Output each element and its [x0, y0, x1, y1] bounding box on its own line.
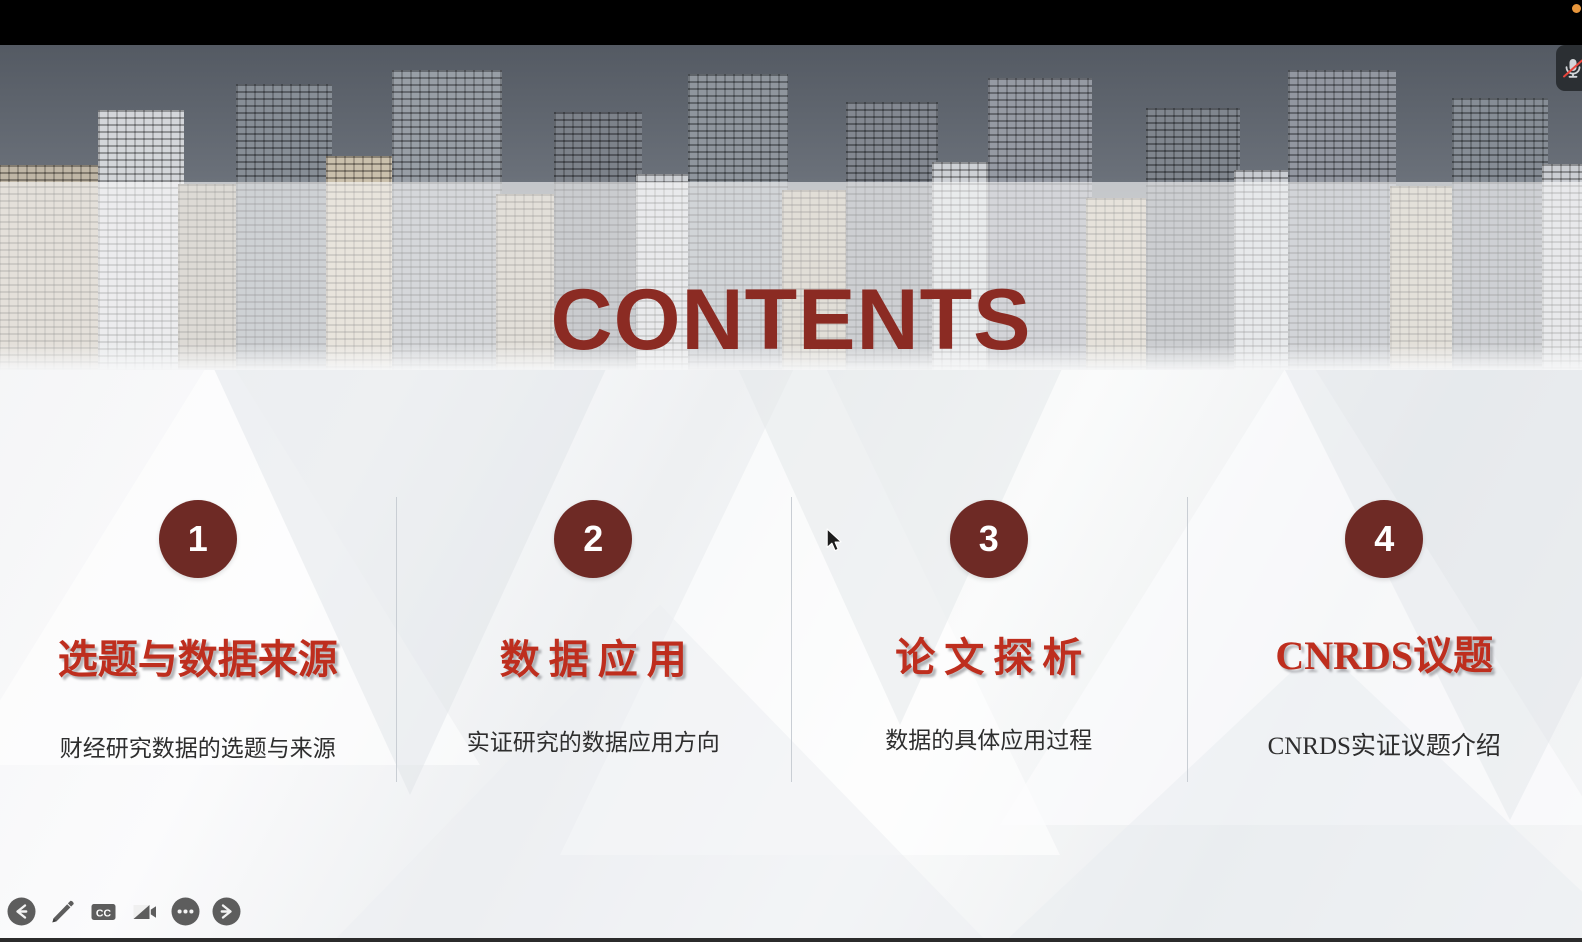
pen-annotate-button[interactable] [47, 896, 78, 927]
top-letterbox-bar [0, 0, 1582, 45]
camera-off-button[interactable] [129, 896, 160, 927]
contents-section-1[interactable]: 1 选题与数据来源 财经研究数据的选题与来源 [0, 445, 396, 785]
presenter-toolbar: CC [6, 893, 242, 929]
section-description: 实证研究的数据应用方向 [467, 732, 720, 755]
section-title: 数据应用 [491, 640, 696, 680]
section-number-badge: 4 [1345, 500, 1423, 578]
ellipsis-icon [170, 896, 201, 927]
bottom-border [0, 938, 1582, 942]
section-title: CNRDS议题 [1275, 636, 1493, 676]
section-number-badge: 2 [554, 500, 632, 578]
section-title: 论文探析 [886, 638, 1091, 678]
pen-icon [47, 896, 78, 927]
presentation-screen: CONTENTS 1 选题与数据来源 财经研究数据的选题与来源 2 数据应用 实… [0, 0, 1582, 942]
previous-slide-button[interactable] [6, 896, 37, 927]
more-options-button[interactable] [170, 896, 201, 927]
camera-off-icon [129, 896, 160, 927]
next-slide-button[interactable] [211, 896, 242, 927]
section-description: 数据的具体应用过程 [885, 730, 1092, 753]
svg-text:CC: CC [96, 907, 112, 919]
section-title: 选题与数据来源 [58, 640, 338, 680]
closed-caption-icon: CC [88, 896, 119, 927]
contents-section-4[interactable]: 4 CNRDS议题 CNRDS实证议题介绍 [1187, 445, 1582, 785]
captions-button[interactable]: CC [88, 896, 119, 927]
section-description: CNRDS实证议题介绍 [1268, 734, 1501, 759]
contents-columns: 1 选题与数据来源 财经研究数据的选题与来源 2 数据应用 实证研究的数据应用方… [0, 445, 1582, 785]
contents-section-2[interactable]: 2 数据应用 实证研究的数据应用方向 [396, 445, 792, 785]
slide-canvas[interactable]: CONTENTS 1 选题与数据来源 财经研究数据的选题与来源 2 数据应用 实… [0, 45, 1582, 938]
recording-indicator-dot [1572, 4, 1581, 13]
page-title: CONTENTS [0, 277, 1582, 363]
section-number-badge: 3 [950, 500, 1028, 578]
section-number-badge: 1 [159, 500, 237, 578]
arrow-left-circle-icon [6, 896, 37, 927]
arrow-right-circle-icon [211, 896, 242, 927]
contents-section-3[interactable]: 3 论文探析 数据的具体应用过程 [791, 445, 1187, 785]
section-description: 财经研究数据的选题与来源 [60, 738, 336, 761]
microphone-status-button[interactable] [1556, 45, 1582, 91]
